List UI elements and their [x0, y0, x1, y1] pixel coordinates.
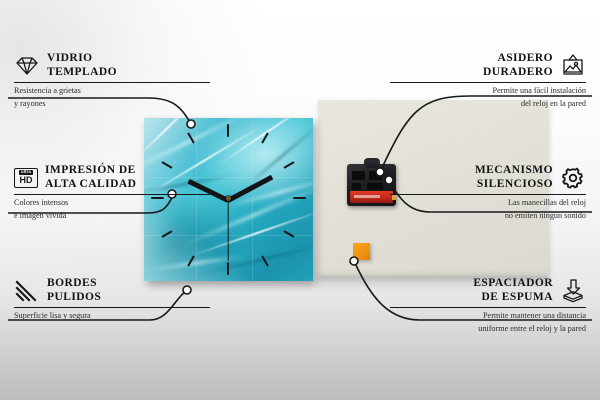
movement-hanger-icon	[364, 158, 380, 168]
feature-title-2: DE ESPUMA	[473, 291, 553, 305]
feature-bordes-pulidos: BORDES PULIDOS Superficie lisa y segura	[14, 277, 210, 321]
ultra-hd-badge-icon: ultra HD	[14, 168, 38, 188]
badge-ultra-label: ultra	[19, 170, 33, 174]
feature-desc: Colores intensos	[14, 198, 210, 208]
feature-title-2: SILENCIOSO	[475, 178, 553, 192]
product-infographic: VIDRIO TEMPLADO Resistencia a grietas y …	[0, 0, 600, 400]
feature-rule	[14, 82, 210, 83]
feature-rule	[14, 307, 210, 308]
feature-desc-2: y rayones	[14, 99, 210, 109]
feature-title: VIDRIO	[47, 52, 117, 66]
feature-title-2: DURADERO	[483, 66, 553, 80]
feature-desc: Resistencia a grietas	[14, 86, 210, 96]
badge-hd-label: HD	[20, 176, 33, 185]
feature-asidero-duradero: ASIDERO DURADERO Permite una fácil insta…	[390, 52, 586, 109]
feature-title: IMPRESIÓN DE	[45, 164, 136, 178]
feature-rule	[390, 194, 586, 195]
feature-rule	[390, 307, 586, 308]
diamond-icon	[14, 54, 40, 78]
feature-title-2: PULIDOS	[47, 291, 101, 305]
hanging-picture-frame-icon	[560, 54, 586, 78]
battery	[350, 191, 393, 203]
feature-title-2: ALTA CALIDAD	[45, 178, 136, 192]
feature-mecanismo-silencioso: MECANISMO SILENCIOSO Las manecillas del …	[390, 164, 586, 221]
feature-title: BORDES	[47, 277, 101, 291]
feature-desc: Superficie lisa y segura	[14, 311, 210, 321]
feature-title: ESPACIADOR	[473, 277, 553, 291]
feature-desc-2: no emiten ningún sonido	[390, 211, 586, 221]
feature-desc-2: del reloj en la pared	[390, 99, 586, 109]
feature-impresion-alta-calidad: ultra HD IMPRESIÓN DE ALTA CALIDAD Color…	[14, 164, 210, 221]
foam-spacer	[353, 243, 370, 260]
feature-title: ASIDERO	[483, 52, 553, 66]
feature-rule	[14, 194, 210, 195]
feature-desc: Permite una fácil instalación	[390, 86, 586, 96]
feature-desc: Permite mantener una distancia	[390, 311, 586, 321]
feature-desc: Las manecillas del reloj	[390, 198, 586, 208]
feature-title-2: TEMPLADO	[47, 66, 117, 80]
arrow-down-onto-pad-icon	[560, 279, 586, 303]
clock-hub	[226, 196, 231, 201]
clock-second-hand	[227, 199, 228, 261]
feature-desc-2: uniforme entre el reloj y la pared	[390, 324, 586, 334]
clock-movement-box	[347, 164, 396, 206]
diagonal-stripes-icon	[14, 279, 40, 303]
feature-rule	[390, 82, 586, 83]
gear-icon	[560, 166, 586, 190]
feature-desc-2: e imagen vívida	[14, 211, 210, 221]
feature-espaciador-de-espuma: ESPACIADOR DE ESPUMA Permite mantener un…	[390, 277, 586, 334]
feature-title: MECANISMO	[475, 164, 553, 178]
feature-vidrio-templado: VIDRIO TEMPLADO Resistencia a grietas y …	[14, 52, 210, 109]
